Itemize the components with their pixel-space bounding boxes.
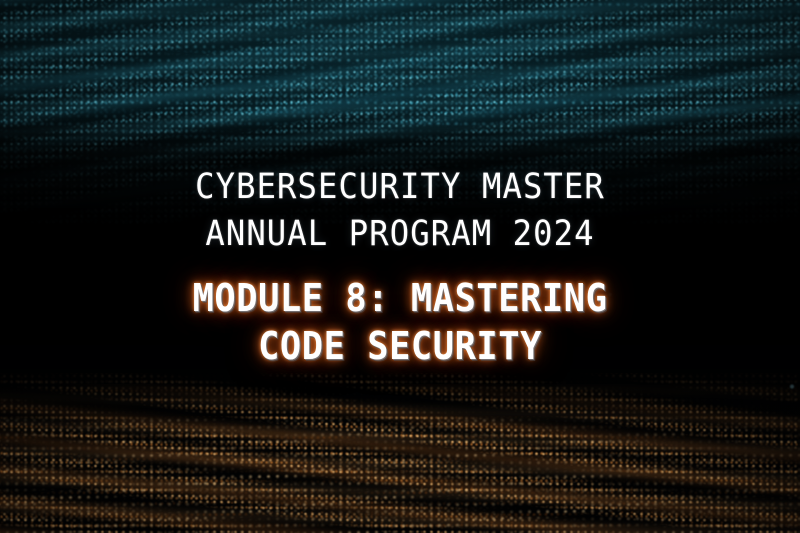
program-title-line-2: ANNUAL PROGRAM 2024: [32, 211, 768, 258]
course-banner: CYBERSECURITY MASTER ANNUAL PROGRAM 2024…: [0, 0, 800, 533]
program-title-line-1: CYBERSECURITY MASTER: [32, 164, 768, 211]
module-title-line-2: CODE SECURITY: [28, 322, 772, 370]
program-title-group: CYBERSECURITY MASTER ANNUAL PROGRAM 2024: [0, 164, 800, 258]
module-title-group: MODULE 8: MASTERING CODE SECURITY: [0, 274, 800, 370]
banner-content: CYBERSECURITY MASTER ANNUAL PROGRAM 2024…: [0, 0, 800, 533]
module-title-line-1: MODULE 8: MASTERING: [28, 274, 772, 322]
